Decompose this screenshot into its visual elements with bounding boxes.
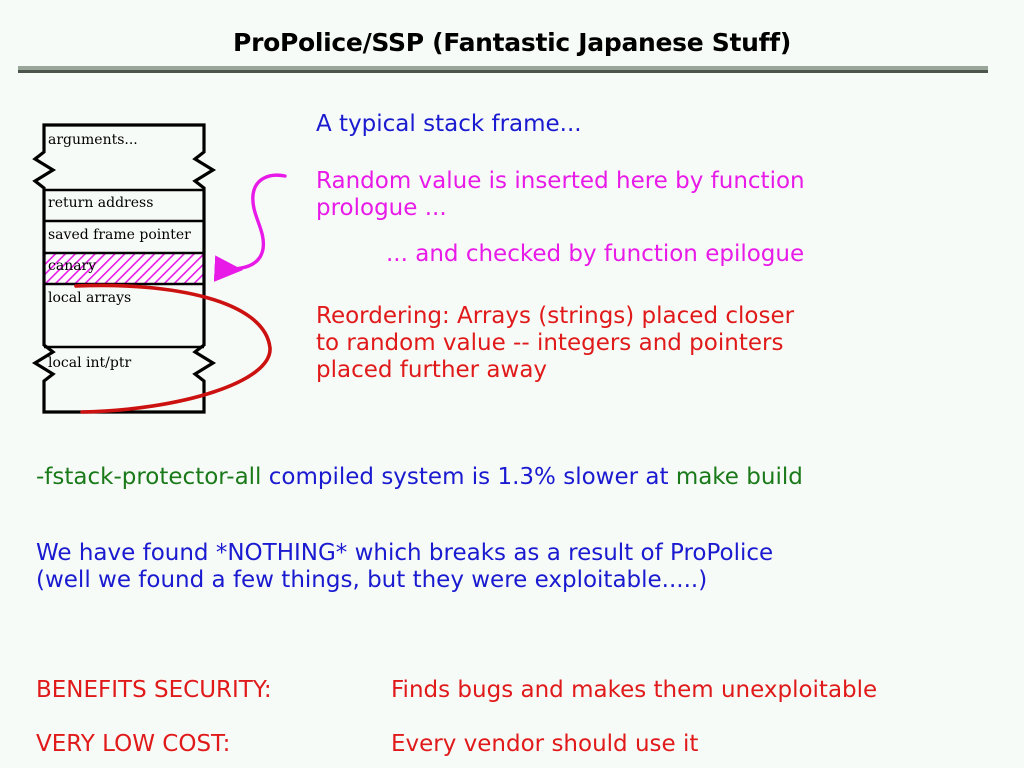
conclusion-text-benefits: Finds bugs and makes them unexploitable [391,677,877,704]
performance-middle-text: compiled system is 1.3% slower at [261,464,675,490]
stack-row-label-return-address: return address [48,195,153,211]
stack-row-label-local-int-ptr: local int/ptr [48,355,131,371]
divider-shadow [18,70,988,73]
callout-typical-frame: A typical stack frame... [316,111,582,138]
conclusions-block: BENEFITS SECURITY: Finds bugs and makes … [36,650,877,768]
compatibility-block: We have found *NOTHING* which breaks as … [36,540,773,594]
slide-canvas: ProPolice/SSP (Fantastic Japanese Stuff) [0,0,1024,768]
stack-row-label-local-arrays: local arrays [48,290,131,306]
conclusion-heading-cost: VERY LOW COST: [36,731,391,758]
performance-line: -fstack-protector-all compiled system is… [36,464,803,491]
conclusion-row: BENEFITS SECURITY: Finds bugs and makes … [36,677,877,704]
callout-random-value: Random value is inserted here by functio… [316,168,805,222]
callout-checked-epilogue: ... and checked by function epilogue [386,241,804,268]
stack-row-label-saved-frame-pointer: saved frame pointer [48,227,191,243]
stack-row-label-arguments: arguments... [48,132,138,148]
compatibility-line-2: (well we found a few things, but they we… [36,567,773,594]
title-divider [18,66,988,73]
callout-reordering: Reordering: Arrays (strings) placed clos… [316,303,794,384]
conclusion-text-cost: Every vendor should use it [391,731,877,758]
compatibility-line-1: We have found *NOTHING* which breaks as … [36,540,773,567]
canary-arrow [223,175,285,269]
conclusion-row: VERY LOW COST: Every vendor should use i… [36,731,877,758]
stack-frame-diagram: arguments... return address saved frame … [20,110,340,430]
fstack-flag-text: -fstack-protector-all [36,464,261,490]
make-build-text: make build [676,464,803,490]
conclusion-heading-benefits: BENEFITS SECURITY: [36,677,391,704]
page-title: ProPolice/SSP (Fantastic Japanese Stuff) [0,28,1024,57]
stack-row-label-canary: canary [48,258,96,274]
